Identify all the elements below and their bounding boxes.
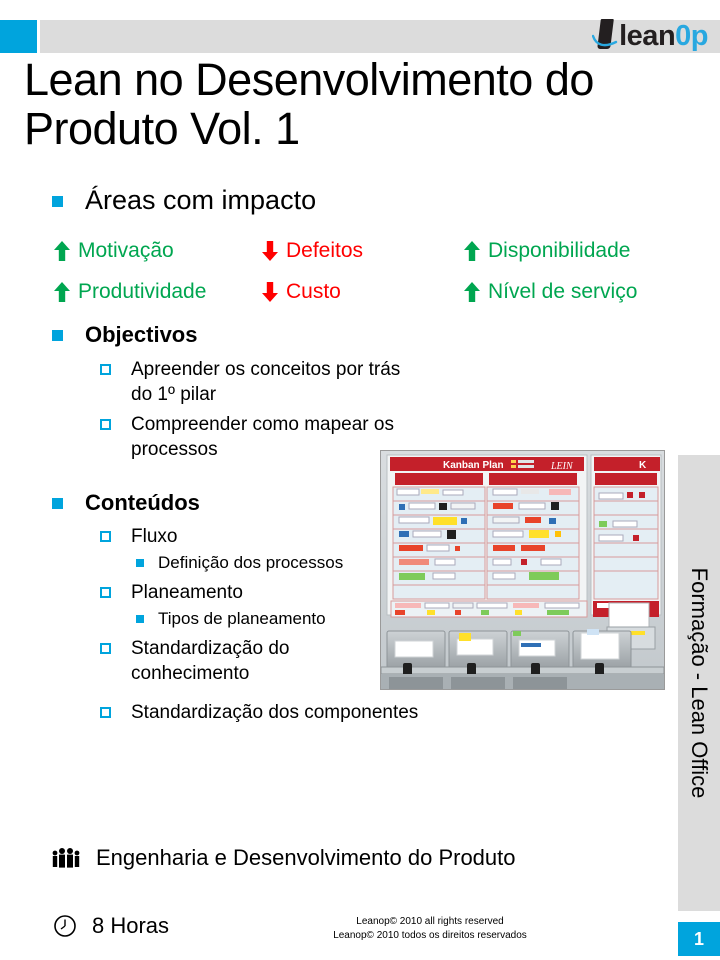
arrow-up-icon (462, 281, 482, 303)
conteudo-label: Fluxo (131, 524, 177, 549)
bullet-hollow-square-icon (100, 531, 111, 542)
footer-audience-label: Engenharia e Desenvolvimento do Produto (96, 845, 516, 871)
impact-label: Custo (286, 280, 341, 304)
leanop-logo: lean0p (592, 18, 708, 54)
bullet-square-icon (52, 196, 63, 207)
conteudo-label: Standardização dos componentes (131, 700, 418, 725)
objectivo-item-2: Compreender como mapear os processos (100, 412, 394, 462)
impact-item-disponibilidade: Disponibilidade (462, 239, 630, 263)
impact-item-motivacao: Motivação (52, 239, 174, 263)
arrow-up-icon (52, 281, 72, 303)
impact-item-custo: Custo (260, 280, 341, 304)
conteudo-item-standardizacao-componentes: Standardização dos componentes (100, 700, 418, 725)
logo-word-lean: lean (619, 20, 675, 52)
impact-label: Disponibilidade (488, 239, 630, 263)
footer-duration-row: 8 Horas (52, 913, 169, 939)
objectivo-label: Apreender os conceitos por trás do 1º pi… (131, 357, 400, 407)
clock-icon (52, 913, 78, 939)
conteudo-label: Planeamento (131, 580, 243, 605)
conteudo-subitem-tipos-de-planeamento: Tipos de planeamento (136, 608, 326, 630)
impact-label: Motivação (78, 239, 174, 263)
header-accent-square (0, 20, 37, 53)
arrow-down-icon (260, 240, 280, 262)
footer-audience-row: Engenharia e Desenvolvimento do Produto (50, 845, 516, 871)
sidebar-vertical-label: Formação - Lean Office (678, 455, 720, 911)
section-heading-objectivos: Objectivos (52, 322, 197, 348)
conteudo-item-fluxo: Fluxo (100, 524, 177, 549)
conteudos-heading-label: Conteúdos (85, 490, 200, 516)
impact-item-defeitos: Defeitos (260, 239, 363, 263)
bullet-square-icon (52, 330, 63, 341)
bullet-hollow-square-icon (100, 364, 111, 375)
conteudo-sublabel: Definição dos processos (158, 552, 343, 574)
kanban-board-photo: Kanban Plan K LEIN (380, 450, 665, 690)
impact-label: Defeitos (286, 239, 363, 263)
svg-text:Kanban Plan: Kanban Plan (443, 460, 504, 471)
arrow-up-icon (462, 240, 482, 262)
conteudo-subitem-definicao-dos-processos: Definição dos processos (136, 552, 343, 574)
impact-label: Nível de serviço (488, 280, 637, 304)
conteudo-sublabel: Tipos de planeamento (158, 608, 326, 630)
impact-item-nivel-de-servico: Nível de serviço (462, 280, 637, 304)
bullet-square-icon (52, 498, 63, 509)
conteudo-item-standardizacao-conhecimento: Standardização do conhecimento (100, 636, 289, 686)
logo-wordmark: lean0p (619, 22, 708, 51)
impact-heading-label: Áreas com impacto (85, 185, 316, 215)
arrow-up-icon (52, 240, 72, 262)
page-title: Lean no Desenvolvimento do Produto Vol. … (24, 55, 684, 153)
conteudo-label: Standardização do conhecimento (131, 636, 289, 686)
impact-label: Produtividade (78, 280, 206, 304)
objectivo-label: Compreender como mapear os processos (131, 412, 394, 462)
page-number-badge: 1 (678, 922, 720, 956)
arrow-down-icon (260, 281, 280, 303)
copyright-line-en: Leanop© 2010 all rights reserved (255, 915, 605, 929)
section-heading-conteudos: Conteúdos (52, 490, 200, 516)
logo-swoosh-icon (592, 33, 618, 49)
bullet-hollow-square-icon (100, 643, 111, 654)
conteudo-item-planeamento: Planeamento (100, 580, 243, 605)
bullet-hollow-square-icon (100, 419, 111, 430)
bullet-hollow-square-icon (100, 707, 111, 718)
logo-word-op: 0p (675, 20, 708, 52)
svg-text:LEIN: LEIN (550, 461, 574, 472)
bullet-small-square-icon (136, 615, 144, 623)
section-heading-impact: Áreas com impacto (52, 185, 316, 215)
footer-duration-label: 8 Horas (92, 913, 169, 939)
objectivo-item-1: Apreender os conceitos por trás do 1º pi… (100, 357, 400, 407)
leanop-hat-logo-icon (592, 19, 618, 53)
objectivos-heading-label: Objectivos (85, 322, 197, 348)
kanban-board-illustration: Kanban Plan K LEIN (381, 451, 664, 689)
svg-text:K: K (639, 460, 647, 471)
impact-item-produtividade: Produtividade (52, 280, 206, 304)
bullet-hollow-square-icon (100, 587, 111, 598)
bullet-small-square-icon (136, 559, 144, 567)
people-group-icon (50, 846, 82, 870)
copyright-line-pt: Leanop© 2010 todos os direitos reservado… (255, 929, 605, 943)
copyright-block: Leanop© 2010 all rights reserved Leanop©… (255, 915, 605, 943)
